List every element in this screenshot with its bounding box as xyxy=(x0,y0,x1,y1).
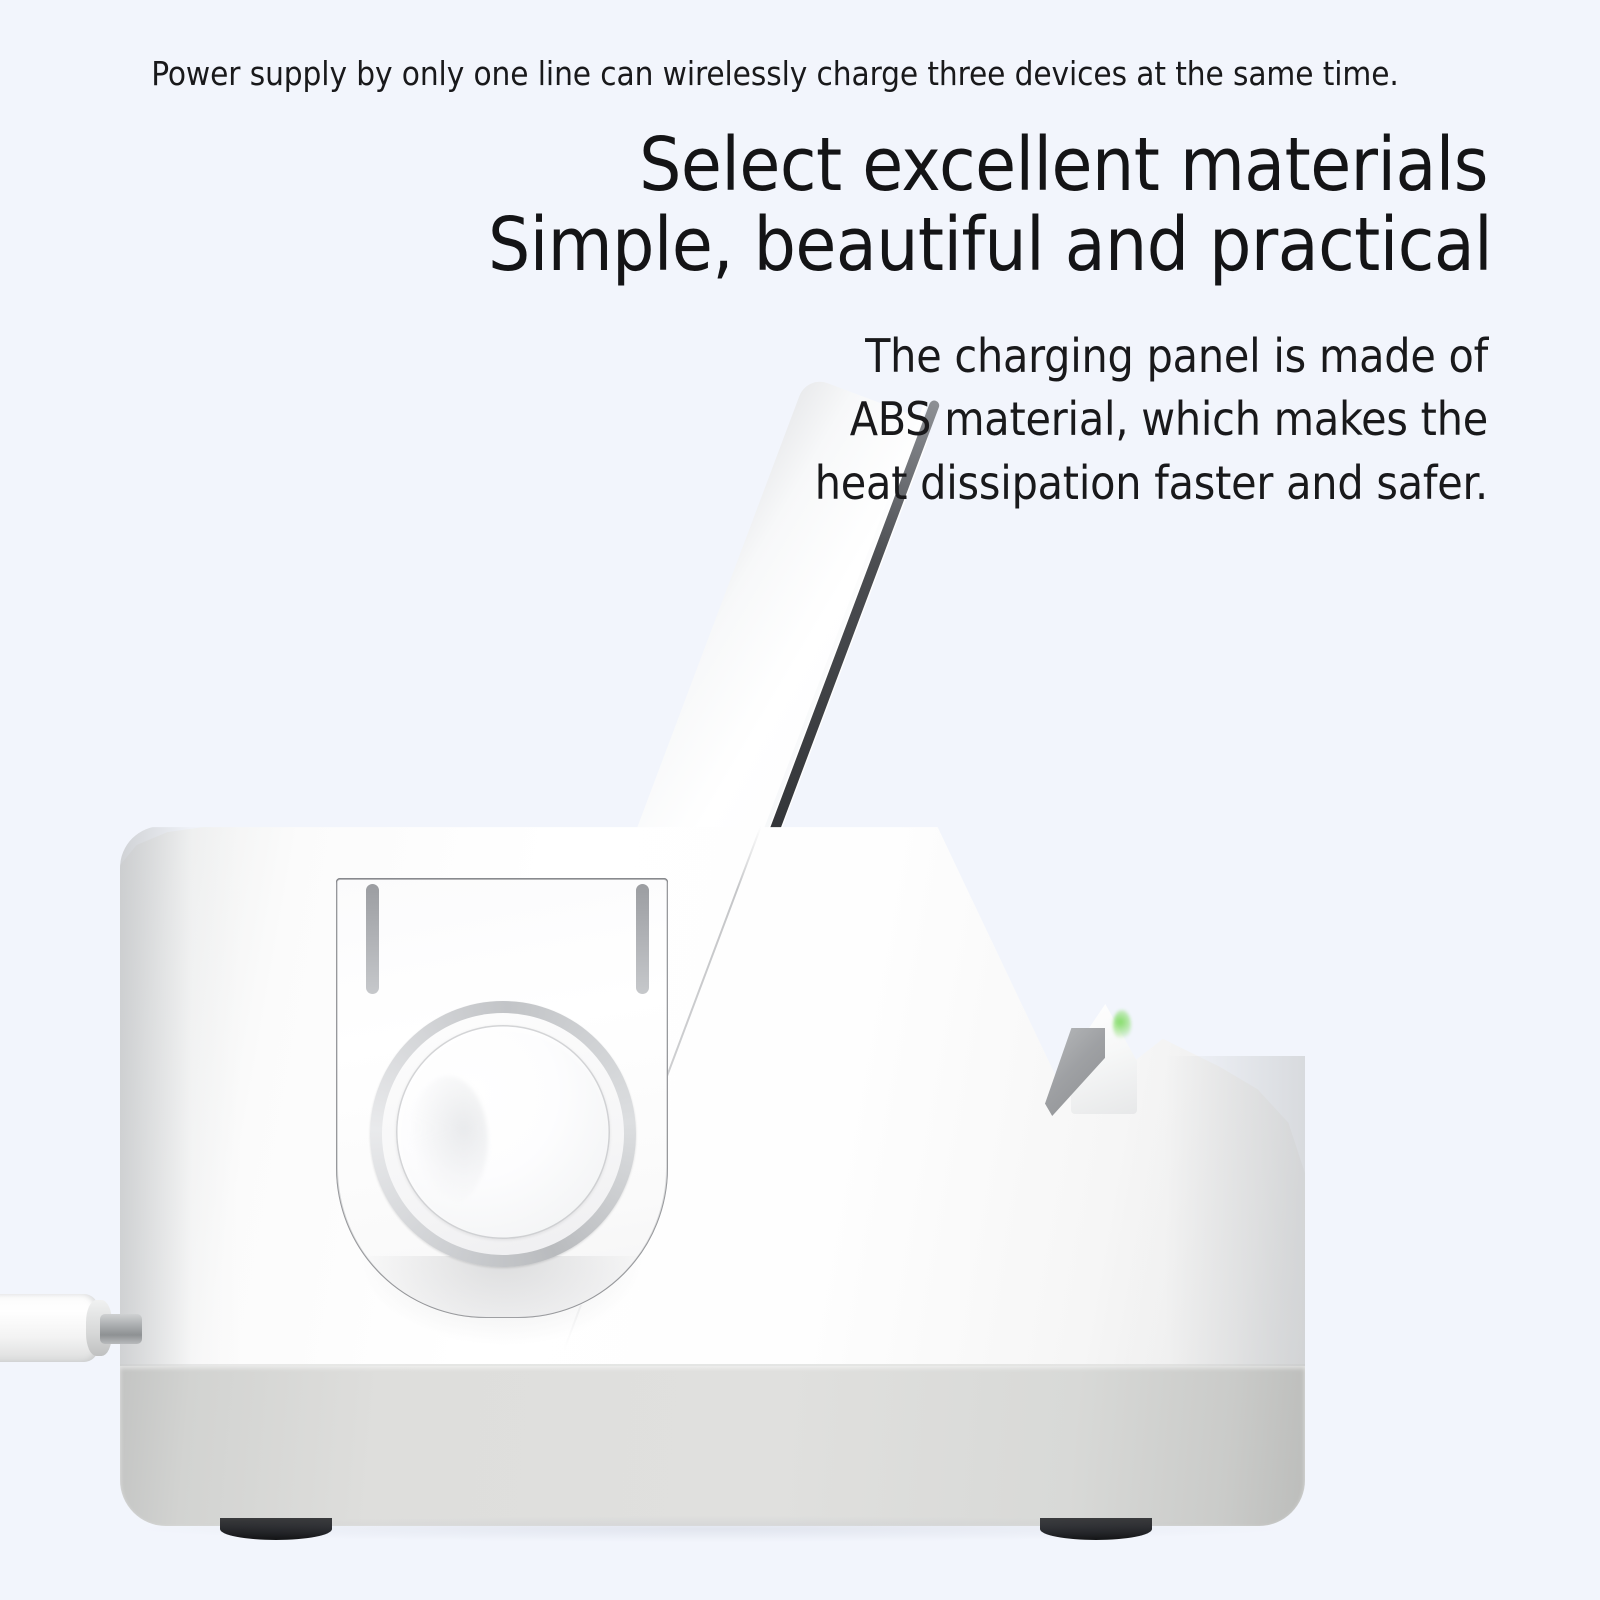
recess-slot-right xyxy=(636,884,649,994)
headline: Select excellent materials Simple, beaut… xyxy=(488,128,1488,282)
usb-cable-body xyxy=(0,1294,98,1362)
base-band xyxy=(120,1366,1305,1526)
body-copy-line-1: The charging panel is made of xyxy=(648,325,1488,388)
support-ridge-group xyxy=(1045,1004,1165,1116)
marketing-image-canvas: Power supply by only one line can wirele… xyxy=(0,0,1600,1600)
charger-body-group xyxy=(120,826,1305,1526)
body-copy-line-2: ABS material, which makes the xyxy=(648,388,1488,451)
charging-puck-sheen xyxy=(408,1076,488,1206)
usb-cable-tip xyxy=(100,1314,142,1344)
body-copy-line-3: heat dissipation faster and safer. xyxy=(648,452,1488,515)
headline-line-2: Simple, beautiful and practical xyxy=(488,208,1488,282)
recess-slot-left xyxy=(366,884,379,994)
watch-recess-shadow xyxy=(358,1256,648,1346)
support-ridge-green-accent xyxy=(1113,1010,1131,1040)
headline-line-1: Select excellent materials xyxy=(488,128,1488,202)
contact-shadow xyxy=(140,1516,1280,1542)
body-copy: The charging panel is made of ABS materi… xyxy=(648,325,1488,515)
usb-cable-group xyxy=(0,1280,150,1390)
tagline: Power supply by only one line can wirele… xyxy=(60,55,1490,93)
